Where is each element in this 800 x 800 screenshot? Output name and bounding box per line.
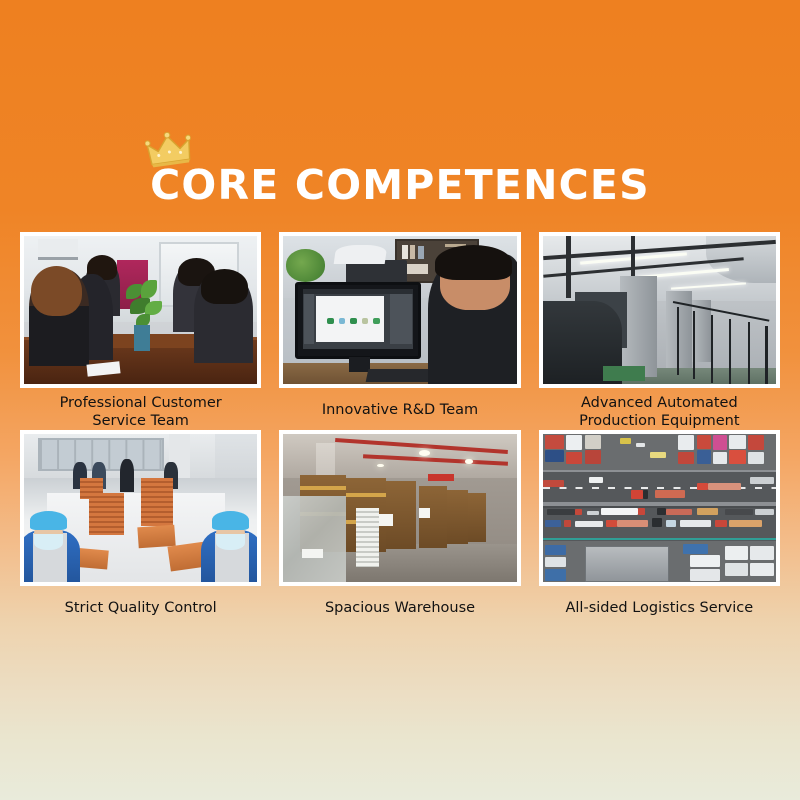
- competence-card-advanced-automated-production-equipment[interactable]: Advanced Automated Production Equipment: [539, 232, 780, 430]
- photo-frame: [279, 430, 520, 586]
- caption-advanced-automated-production-equipment: Advanced Automated Production Equipment: [539, 388, 780, 430]
- caption-line-1: Innovative R&D Team: [322, 402, 478, 418]
- photo-frame: [20, 232, 261, 388]
- page-title: CORE COMPETENCES: [150, 160, 650, 210]
- caption-line-2: Service Team: [92, 413, 189, 429]
- core-competences-page: CORE COMPETENCES: [0, 0, 800, 800]
- caption-strict-quality-control: Strict Quality Control: [20, 586, 261, 628]
- competence-card-all-sided-logistics-service[interactable]: All-sided Logistics Service: [539, 430, 780, 628]
- photo-logistics-service: [543, 434, 776, 582]
- photo-production-equipment: [543, 236, 776, 384]
- photo-frame: [539, 430, 780, 586]
- competence-card-spacious-warehouse[interactable]: Spacious Warehouse: [279, 430, 520, 628]
- caption-line-1: Spacious Warehouse: [325, 600, 475, 616]
- title-wrap: CORE COMPETENCES: [150, 160, 650, 210]
- caption-line-1: Advanced Automated: [581, 395, 738, 411]
- caption-spacious-warehouse: Spacious Warehouse: [279, 586, 520, 628]
- header: CORE COMPETENCES: [0, 160, 800, 210]
- competence-card-professional-customer-service-team[interactable]: Professional Customer Service Team: [20, 232, 261, 430]
- caption-professional-customer-service-team: Professional Customer Service Team: [20, 388, 261, 430]
- competence-grid: Professional Customer Service Team: [20, 232, 780, 628]
- competence-card-strict-quality-control[interactable]: Strict Quality Control: [20, 430, 261, 628]
- photo-frame: [20, 430, 261, 586]
- photo-frame: [279, 232, 520, 388]
- photo-frame: [539, 232, 780, 388]
- caption-innovative-rd-team: Innovative R&D Team: [279, 388, 520, 430]
- caption-line-1: All-sided Logistics Service: [565, 600, 753, 616]
- competence-card-innovative-rd-team[interactable]: Innovative R&D Team: [279, 232, 520, 430]
- photo-spacious-warehouse: [283, 434, 516, 582]
- caption-all-sided-logistics-service: All-sided Logistics Service: [539, 586, 780, 628]
- photo-strict-quality-control: [24, 434, 257, 582]
- photo-innovative-rd-team: [283, 236, 516, 384]
- photo-customer-service-team: [24, 236, 257, 384]
- caption-line-1: Strict Quality Control: [65, 600, 217, 616]
- caption-line-1: Professional Customer: [60, 395, 222, 411]
- caption-line-2: Production Equipment: [579, 413, 739, 429]
